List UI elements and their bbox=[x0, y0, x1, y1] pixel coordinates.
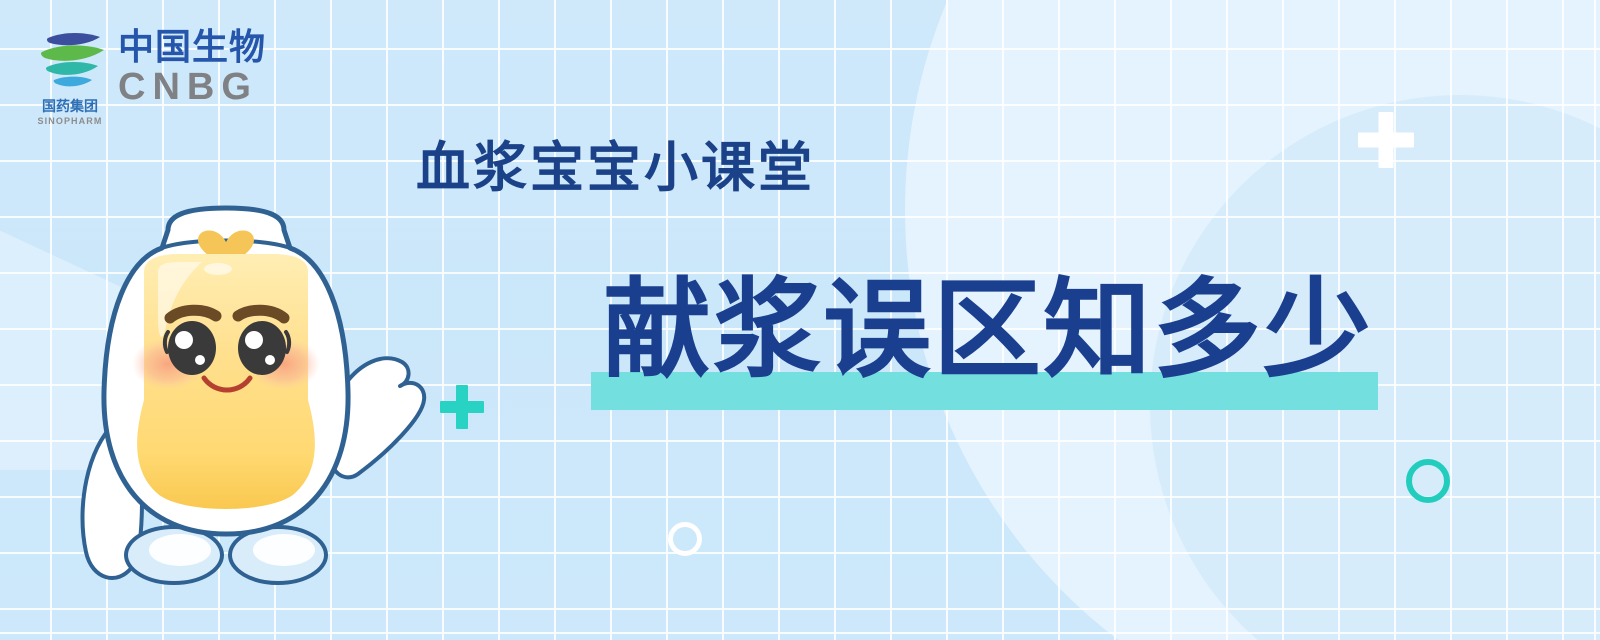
sinopharm-swoosh-icon bbox=[34, 30, 106, 97]
ring-white-icon bbox=[668, 522, 702, 556]
banner-headline: 献浆误区知多少 bbox=[603, 270, 1373, 391]
sinopharm-cnbg-logo: 国药集团 SINOPHARM 中国生物 CNBG bbox=[32, 28, 266, 126]
banner-headline-group: 献浆误区知多少 bbox=[591, 270, 1381, 430]
promo-banner: 国药集团 SINOPHARM 中国生物 CNBG 血浆宝宝小课堂 献浆误区知多少 bbox=[0, 0, 1600, 640]
banner-subtitle: 血浆宝宝小课堂 bbox=[416, 140, 815, 194]
logo-text-column: 中国生物 CNBG bbox=[118, 28, 266, 106]
plasma-bag-mascot bbox=[52, 186, 452, 586]
brand-en-label: CNBG bbox=[118, 68, 266, 106]
ring-teal-icon bbox=[1406, 459, 1450, 503]
brand-cn-label: 中国生物 bbox=[118, 30, 266, 67]
logo-mark-column: 国药集团 SINOPHARM bbox=[32, 28, 108, 126]
sinopharm-cn-label: 国药集团 bbox=[42, 100, 98, 114]
sinopharm-en-label: SINOPHARM bbox=[38, 117, 103, 126]
plus-white-icon bbox=[1358, 112, 1414, 168]
